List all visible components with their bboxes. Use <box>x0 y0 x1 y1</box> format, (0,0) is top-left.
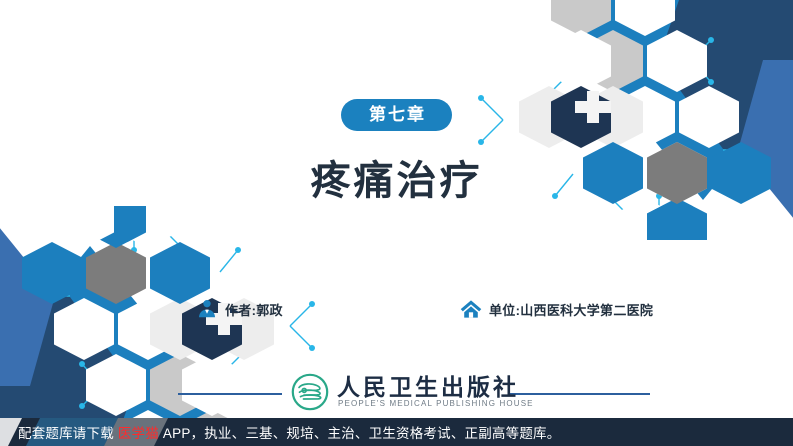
publisher-logo: 人民卫生出版社 PEOPLE'S MEDICAL PUBLISHING HOUS… <box>290 372 534 412</box>
author-label: 作者:郭政 <box>225 300 283 319</box>
chapter-badge: 第七章 <box>341 99 452 131</box>
person-icon <box>196 298 218 320</box>
unit-block: 单位:山西医科大学第二医院 <box>460 298 653 320</box>
promo-prefix: 配套题库请下载 <box>18 426 118 441</box>
publisher-name-cn: 人民卫生出版社 <box>337 376 534 399</box>
publisher-name-en: PEOPLE'S MEDICAL PUBLISHING HOUSE <box>337 400 534 408</box>
promo-text: 配套题库请下载 医学猫 APP，执业、三基、规培、主治、卫生资格考试、正副高等题… <box>0 422 560 442</box>
pmph-emblem-icon <box>290 372 330 412</box>
chevron-midblue-bl <box>0 216 55 386</box>
unit-label: 单位:山西医科大学第二医院 <box>489 300 653 319</box>
metadata-row: 作者:郭政 单位:山西医科大学第二医院 <box>196 296 696 326</box>
slide-canvas: 第七章 疼痛治疗 作者:郭政 单位:山西医科大学第二医院 <box>0 0 793 446</box>
chevron-midblue <box>738 60 793 230</box>
chevron-blue-large-bl <box>0 246 242 446</box>
promo-brand: 医学猫 <box>118 426 159 441</box>
promo-banner: 配套题库请下载 医学猫 APP，执业、三基、规培、主治、卫生资格考试、正副高等题… <box>0 418 793 446</box>
home-icon <box>460 298 482 320</box>
chapter-badge-container: 第七章 <box>0 99 793 131</box>
slide-title: 疼痛治疗 <box>0 158 793 204</box>
author-block: 作者:郭政 <box>196 298 283 320</box>
promo-suffix: APP，执业、三基、规培、主治、卫生资格考试、正副高等题库。 <box>159 426 560 441</box>
divider-left <box>178 393 282 395</box>
publisher-band: 人民卫生出版社 PEOPLE'S MEDICAL PUBLISHING HOUS… <box>0 372 793 416</box>
